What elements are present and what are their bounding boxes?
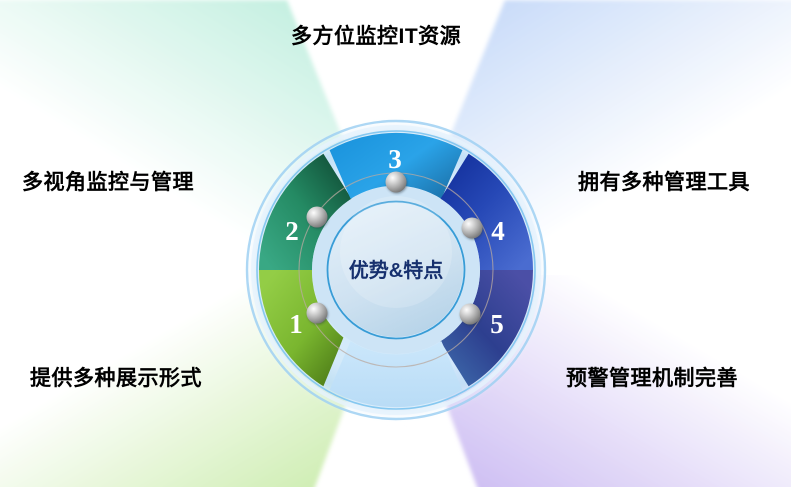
marker-4[interactable] [462, 218, 483, 239]
label-left-upper: 多视角监控与管理 [22, 172, 194, 193]
segment-number-2: 2 [285, 216, 299, 246]
marker-3[interactable] [386, 172, 407, 193]
segment-number-4: 4 [491, 216, 505, 246]
segment-number-3: 3 [388, 144, 402, 174]
label-right-lower: 预警管理机制完善 [566, 368, 738, 389]
segment-number-5: 5 [490, 309, 504, 339]
marker-1[interactable] [307, 303, 328, 324]
diagram-canvas: 优势&特点 1 2 3 4 5 多方位监控IT资源 多视角监控与管理 提供多种展… [0, 0, 791, 487]
marker-2[interactable] [307, 207, 328, 228]
center-disc-highlight [340, 196, 452, 308]
label-right-upper: 拥有多种管理工具 [578, 172, 750, 193]
radial-wheel: 优势&特点 1 2 3 4 5 [0, 0, 791, 487]
segment-number-1: 1 [289, 309, 303, 339]
label-top: 多方位监控IT资源 [291, 26, 461, 47]
label-left-lower: 提供多种展示形式 [30, 368, 202, 389]
center-label: 优势&特点 [349, 258, 443, 282]
marker-5[interactable] [460, 304, 481, 325]
